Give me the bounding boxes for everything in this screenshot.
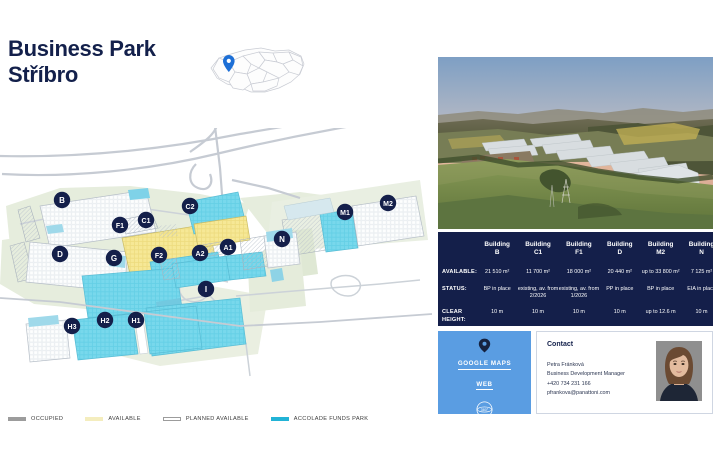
cell-status-D: PP in place [599, 281, 640, 305]
building-marker-h1[interactable]: H1 [128, 312, 144, 328]
building-marker-c1[interactable]: C1 [138, 212, 154, 228]
building-marker-m2[interactable]: M2 [380, 195, 396, 211]
cell-status-B: BP in place [477, 281, 518, 305]
cell-status-M2: BP in place [640, 281, 681, 305]
table-col-header-B: BuildingB [477, 232, 518, 264]
building-marker-i[interactable]: I [198, 281, 214, 297]
building-marker-label: A2 [196, 251, 205, 258]
contact-card: Contact Petra Fránková Business Developm… [536, 331, 713, 414]
building-marker-h3[interactable]: H3 [64, 318, 80, 334]
cell-available-F1: 18 000 m² [558, 264, 599, 281]
cell-clearheight-D: 10 m [599, 305, 640, 326]
building-marker-h2[interactable]: H2 [97, 312, 113, 328]
legend-swatch-occupied [8, 417, 26, 421]
legend-label-accolade-funds-park: ACCOLADE FUNDS PARK [294, 416, 369, 422]
table-header-row: BuildingB BuildingC1 BuildingF1 Building… [438, 232, 713, 264]
cell-clearheight-C1: 10 m [518, 305, 559, 326]
web-link[interactable]: WEB [476, 381, 492, 391]
table-col-header-C1: BuildingC1 [518, 232, 559, 264]
links-panel: GOOGLE MAPS WEB 360° 360° VIEW [438, 331, 531, 414]
building-marker-f1[interactable]: F1 [112, 217, 128, 233]
table-row-clear-height: CLEARHEIGHT: 10 m 10 m 10 m 10 m up to 1… [438, 305, 713, 326]
table-row-status: STATUS: BP in place existing, av. from 2… [438, 281, 713, 305]
cell-available-M2: up to 33 800 m² [640, 264, 681, 281]
building-marker-b[interactable]: B [54, 192, 70, 208]
table-row-label-available: AVAILABLE: [438, 264, 477, 281]
cell-status-F1: existing, av. from 1/2026 [558, 281, 599, 305]
page-title-line2: Stříbro [8, 62, 208, 88]
cell-available-D: 20 440 m² [599, 264, 640, 281]
table-row-label-clear-height: CLEARHEIGHT: [438, 305, 477, 326]
table-col-header-M2: BuildingM2 [640, 232, 681, 264]
building-marker-label: H2 [101, 318, 110, 325]
specification-table: BuildingB BuildingC1 BuildingF1 Building… [438, 232, 713, 326]
legend-swatch-available [85, 417, 103, 421]
building-marker-label: I [205, 285, 207, 294]
table-col-header-D: BuildingD [599, 232, 640, 264]
cell-clearheight-M2: up to 12.6 m [640, 305, 681, 326]
map-pin-icon [478, 338, 491, 358]
cell-status-C1: existing, av. from 2/2026 [518, 281, 559, 305]
building-marker-group: BC2F1C1DF2GA2A1M1M2NIH3H2H1 [52, 192, 396, 334]
aerial-photo [438, 57, 713, 229]
building-marker-label: A1 [224, 245, 233, 252]
building-marker-label: F2 [155, 253, 163, 260]
building-marker-d[interactable]: D [52, 246, 68, 262]
page-title: Business Park Stříbro [8, 36, 208, 88]
building-marker-n[interactable]: N [274, 231, 290, 247]
table-row-label-status: STATUS: [438, 281, 477, 305]
map-legend: OCCUPIED AVAILABLE PLANNED AVAILABLE ACC… [8, 412, 428, 426]
legend-item-accolade-funds-park: ACCOLADE FUNDS PARK [271, 416, 369, 422]
building-marker-c2[interactable]: C2 [182, 198, 198, 214]
table-row-available: AVAILABLE: 21 510 m² 11 700 m² 18 000 m²… [438, 264, 713, 281]
building-marker-label: C2 [186, 204, 195, 211]
cell-clearheight-N: 10 m [681, 305, 713, 326]
building-marker-label: M2 [383, 201, 393, 208]
building-marker-label: C1 [142, 218, 151, 225]
site-plan-map[interactable]: BC2F1C1DF2GA2A1M1M2NIH3H2H1 [0, 128, 432, 396]
building-marker-g[interactable]: G [106, 250, 122, 266]
legend-label-planned-available: PLANNED AVAILABLE [186, 416, 249, 422]
google-maps-link[interactable]: GOOGLE MAPS [458, 360, 511, 370]
building-marker-label: M1 [340, 210, 350, 217]
contact-photo [656, 341, 702, 401]
building-marker-label: G [111, 254, 117, 263]
cell-available-B: 21 510 m² [477, 264, 518, 281]
cell-available-N: 7 125 m² [681, 264, 713, 281]
building-marker-label: H3 [68, 324, 77, 331]
legend-swatch-planned-available [163, 417, 181, 421]
legend-swatch-accolade-funds-park [271, 417, 289, 421]
view-360-icon: 360° [476, 401, 493, 423]
view-360-link[interactable]: 360° VIEW [467, 426, 503, 436]
legend-label-available: AVAILABLE [108, 416, 140, 422]
legend-label-occupied: OCCUPIED [31, 416, 63, 422]
building-marker-label: B [59, 196, 65, 205]
specification-table-element: BuildingB BuildingC1 BuildingF1 Building… [438, 232, 713, 326]
building-marker-label: F1 [116, 223, 124, 230]
building-marker-label: H1 [132, 318, 141, 325]
cell-available-C1: 11 700 m² [518, 264, 559, 281]
legend-item-available: AVAILABLE [85, 416, 140, 422]
legend-item-planned-available: PLANNED AVAILABLE [163, 416, 249, 422]
legend-item-occupied: OCCUPIED [8, 416, 63, 422]
building-marker-label: N [279, 235, 285, 244]
cell-clearheight-F1: 10 m [558, 305, 599, 326]
building-marker-m1[interactable]: M1 [337, 204, 353, 220]
table-col-header-F1: BuildingF1 [558, 232, 599, 264]
building-marker-f2[interactable]: F2 [151, 247, 167, 263]
cell-status-N: EIA in place [681, 281, 713, 305]
country-locator-map [205, 42, 310, 104]
cell-clearheight-B: 10 m [477, 305, 518, 326]
building-marker-label: D [57, 250, 63, 259]
svg-text:360°: 360° [481, 408, 489, 412]
page-title-line1: Business Park [8, 36, 208, 62]
table-corner-cell [438, 232, 477, 264]
building-marker-a1[interactable]: A1 [220, 239, 236, 255]
table-col-header-N: BuildingN [681, 232, 713, 264]
building-marker-a2[interactable]: A2 [192, 245, 208, 261]
page-root: Business Park Stříbro [0, 0, 713, 468]
